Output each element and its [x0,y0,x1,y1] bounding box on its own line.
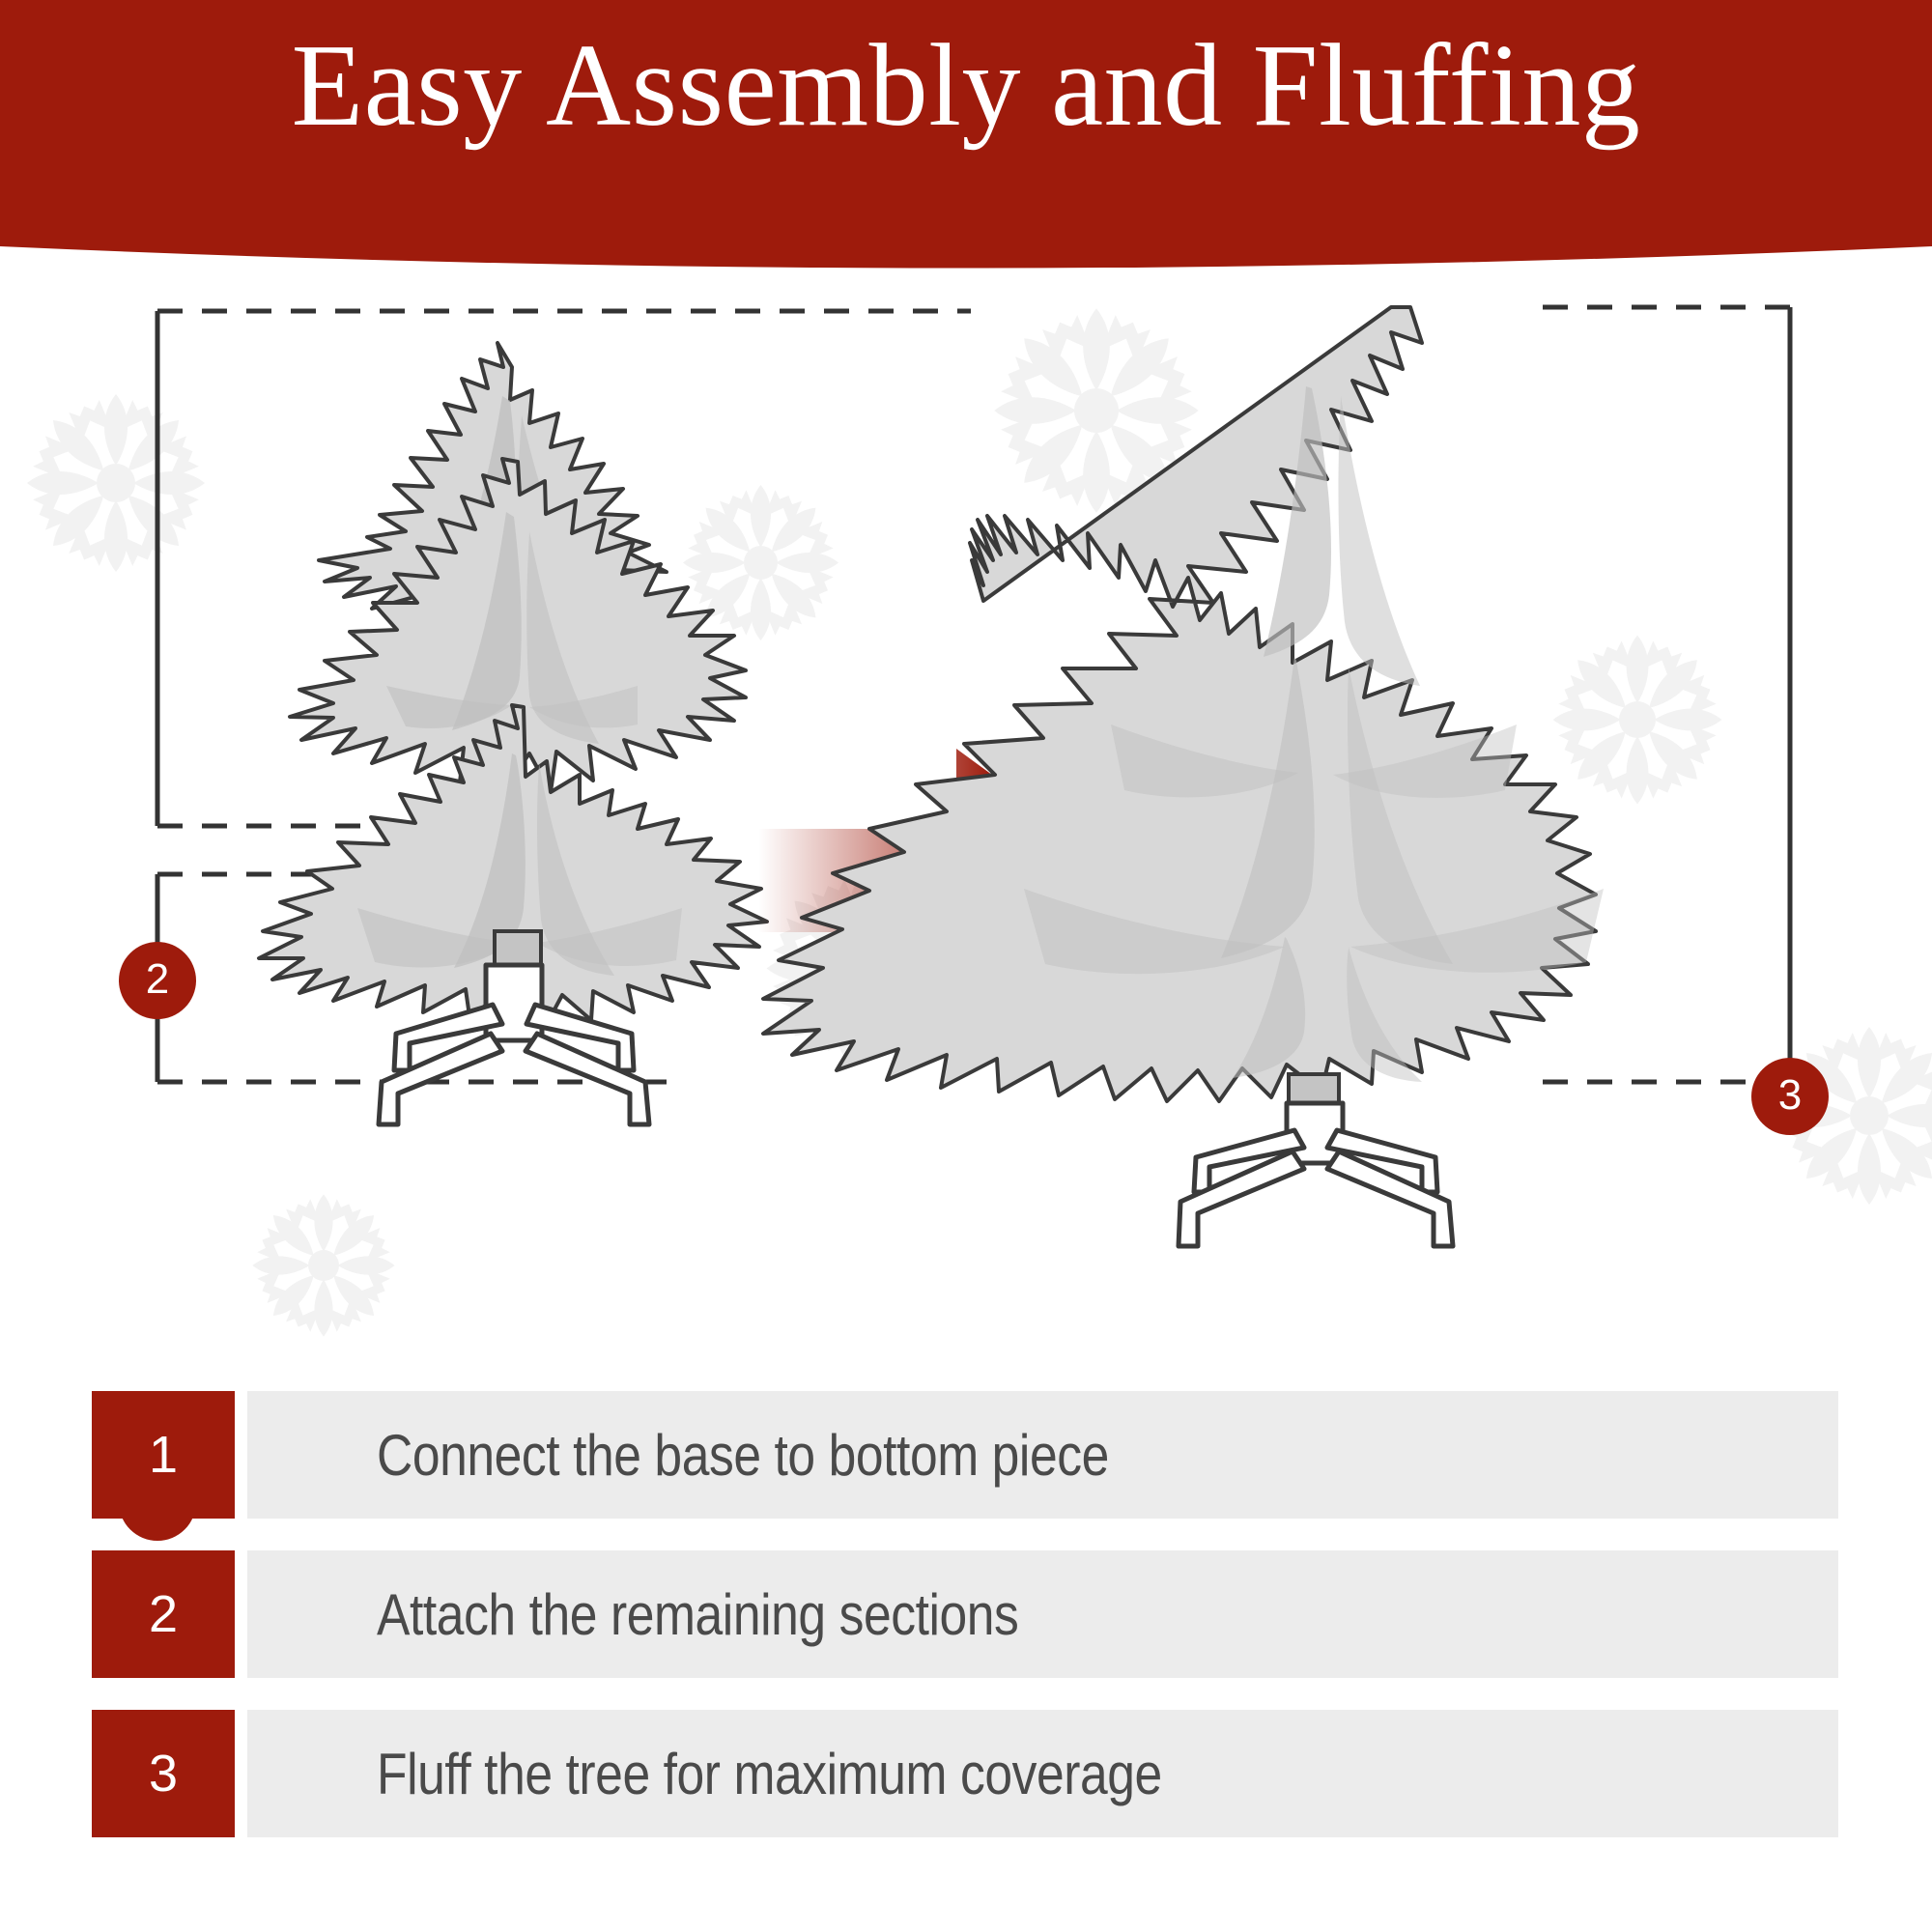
page-title: Easy Assembly and Fluffing [0,27,1932,145]
legend-row: 3 Fluff the tree for maximum coverage [0,1710,1932,1837]
step-text-1: Connect the base to bottom piece [377,1391,1109,1519]
snowflake-icon [1547,629,1729,811]
assembly-diagram: 2 1 3 [0,270,1932,1391]
snowflake-icon [20,387,213,580]
legend-row: 2 Attach the remaining sections [0,1550,1932,1678]
bracket-badge-2: 2 [119,942,196,1019]
header-banner: Easy Assembly and Fluffing [0,0,1932,280]
step-text-2: Attach the remaining sections [377,1550,1018,1678]
step-number-2: 2 [92,1550,235,1678]
tree-stand-base-right [1179,1103,1453,1246]
infographic-page: Easy Assembly and Fluffing [0,0,1932,1932]
legend-row: 1 Connect the base to bottom piece [0,1391,1932,1519]
step-number-1: 1 [92,1391,235,1519]
bracket-badge-3: 3 [1751,1058,1829,1135]
steps-legend: 1 Connect the base to bottom piece 2 Att… [0,1391,1932,1869]
step-number-3: 3 [92,1710,235,1837]
snowflake-icon [246,1188,400,1342]
step-text-3: Fluff the tree for maximum coverage [377,1710,1162,1837]
